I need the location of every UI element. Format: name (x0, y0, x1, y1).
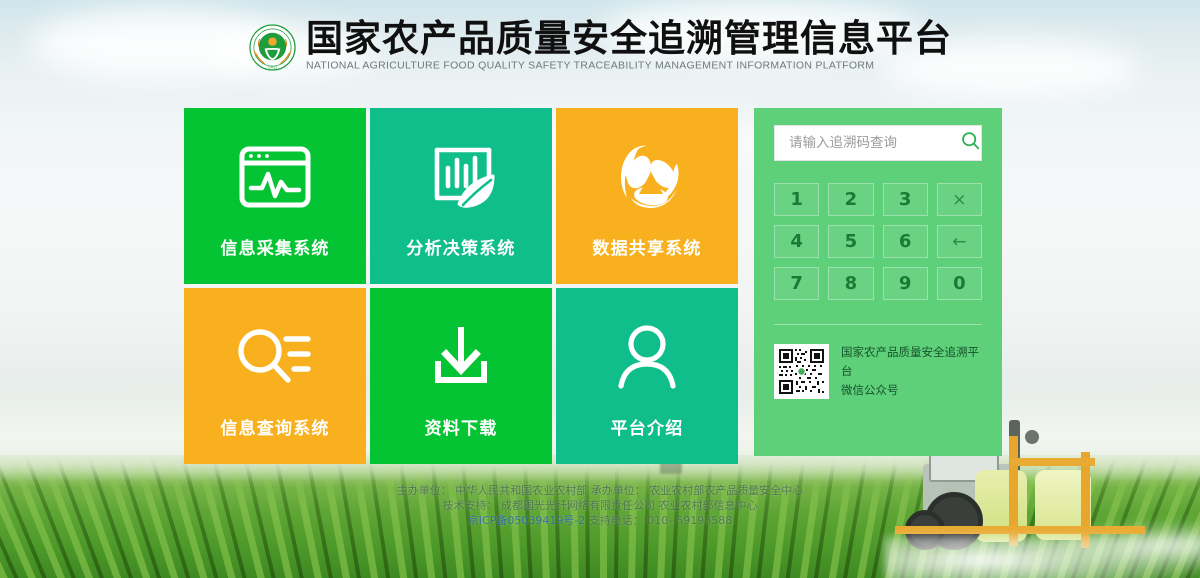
tile-label: 平台介绍 (611, 414, 684, 439)
tile-analysis-decision[interactable]: 分析决策系统 (370, 108, 552, 284)
key-5[interactable]: 5 (828, 225, 873, 258)
share-recycle-icon (611, 134, 683, 220)
traceability-emblem-icon: CAQS (248, 23, 297, 72)
key-2[interactable]: 2 (828, 183, 873, 216)
key-7[interactable]: 7 (774, 267, 819, 300)
tile-information-collection[interactable]: 信息采集系统 (184, 108, 366, 284)
key-8[interactable]: 8 (828, 267, 873, 300)
page-subtitle: NATIONAL AGRICULTURE FOOD QUALITY SAFETY… (306, 60, 952, 71)
tile-information-query[interactable]: 信息查询系统 (184, 288, 366, 464)
page-header: CAQS 国家农产品质量安全追溯管理信息平台 NATIONAL AGRICULT… (0, 0, 1200, 88)
key-0[interactable]: 0 (937, 267, 982, 300)
tile-label: 分析决策系统 (406, 234, 515, 259)
svg-text:CAQS: CAQS (268, 65, 278, 69)
search-input[interactable] (789, 135, 960, 151)
qr-code-icon[interactable] (774, 344, 829, 399)
tile-data-sharing[interactable]: 数据共享系统 (556, 108, 738, 284)
tile-label: 信息采集系统 (220, 234, 329, 259)
page-title: 国家农产品质量安全追溯管理信息平台 (306, 17, 952, 61)
panel-divider (774, 324, 982, 325)
magnifier-list-icon (236, 314, 314, 400)
key-3[interactable]: 3 (883, 183, 928, 216)
key-6[interactable]: 6 (883, 225, 928, 258)
footer-line-technical-support: 技术支持： 成都国光光纤网络有限责任公司 农业农村部信息中心 (0, 498, 1200, 513)
bar-chart-leaf-icon (423, 134, 499, 220)
wechat-qr-caption: 国家农产品质量安全追溯平台 微信公众号 (841, 343, 982, 400)
tile-label: 信息查询系统 (220, 414, 329, 439)
footer-line-icp: 京ICP备05039419号-2 支持电话： 010--59198588 (0, 513, 1200, 528)
key-backspace[interactable]: ← (937, 225, 982, 258)
numeric-keypad: 123×456←7890 (774, 183, 982, 300)
footer-line-organizers: 主办单位： 中华人民共和国农业农村部 承办单位： 农业农村部农产品质量安全中心 (0, 483, 1200, 498)
page-footer: 主办单位： 中华人民共和国农业农村部 承办单位： 农业农村部农产品质量安全中心 … (0, 483, 1200, 528)
brand: CAQS 国家农产品质量安全追溯管理信息平台 NATIONAL AGRICULT… (248, 17, 952, 72)
tile-document-download[interactable]: 资料下载 (370, 288, 552, 464)
tile-label: 数据共享系统 (592, 234, 701, 259)
icp-license-link[interactable]: 京ICP备05039419号-2 (468, 514, 586, 527)
key-1[interactable]: 1 (774, 183, 819, 216)
key-9[interactable]: 9 (883, 267, 928, 300)
monitor-waveform-icon (238, 134, 312, 220)
search-box[interactable] (774, 125, 982, 161)
title-block: 国家农产品质量安全追溯管理信息平台 NATIONAL AGRICULTURE F… (306, 17, 952, 72)
key-clear[interactable]: × (937, 183, 982, 216)
module-tile-grid: 信息采集系统 分析决策系统 (184, 108, 738, 464)
mirror (1025, 430, 1039, 444)
traceability-query-panel: 123×456←7890 (754, 108, 1002, 456)
key-4[interactable]: 4 (774, 225, 819, 258)
qr-caption-line1: 国家农产品质量安全追溯平台 (841, 345, 979, 378)
tile-label: 资料下载 (425, 414, 498, 439)
qr-caption-line2: 微信公众号 (841, 383, 899, 397)
user-icon (615, 314, 679, 400)
search-icon[interactable] (960, 130, 981, 156)
support-phone: 支持电话： 010--59198588 (589, 514, 732, 527)
wechat-qr-block: 国家农产品质量安全追溯平台 微信公众号 (774, 343, 982, 400)
sprayer-frame (1011, 458, 1095, 466)
tile-platform-introduction[interactable]: 平台介绍 (556, 288, 738, 464)
spray-mist (885, 536, 1200, 578)
download-icon (426, 314, 496, 400)
